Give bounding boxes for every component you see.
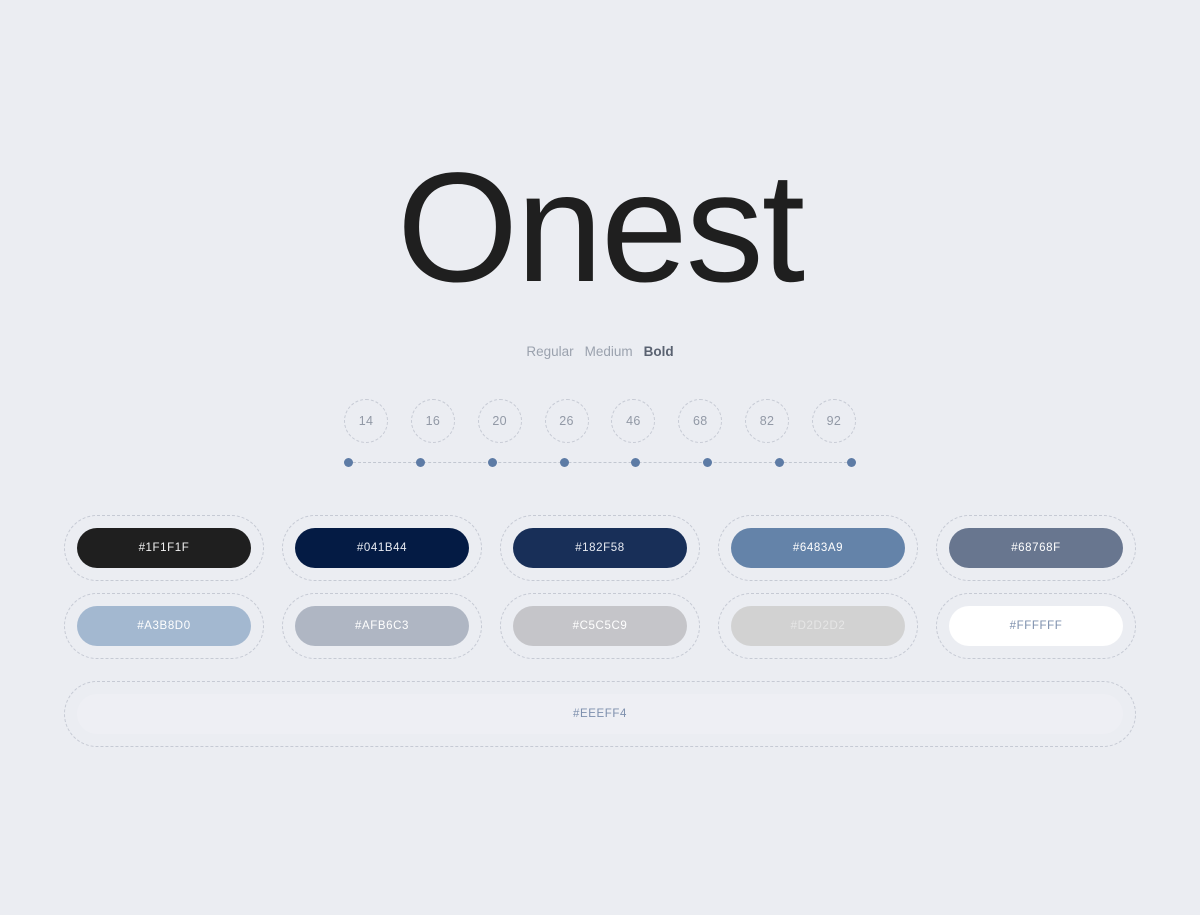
color-swatch[interactable]: #68768F bbox=[949, 528, 1123, 568]
weight-label-regular: Regular bbox=[526, 344, 573, 359]
size-scale-dot[interactable] bbox=[631, 458, 640, 467]
size-scale-value: 92 bbox=[827, 414, 842, 428]
size-scale-value: 26 bbox=[559, 414, 574, 428]
swatch-wrapper: #C5C5C9 bbox=[500, 593, 700, 659]
size-scale-dot[interactable] bbox=[847, 458, 856, 467]
palette-wide-swatch-wrapper: #EEEFF4 bbox=[64, 681, 1136, 747]
size-scale-dot[interactable] bbox=[488, 458, 497, 467]
title-block: Onest Regular Medium Bold bbox=[397, 168, 803, 359]
size-scale-circle[interactable]: 92 bbox=[812, 399, 856, 443]
size-scale-circle[interactable]: 20 bbox=[478, 399, 522, 443]
color-swatch[interactable]: #6483A9 bbox=[731, 528, 905, 568]
palette-row-1: #1F1F1F#041B44#182F58#6483A9#68768F bbox=[64, 515, 1136, 581]
swatch-wrapper: #FFFFFF bbox=[936, 593, 1136, 659]
size-scale-dot[interactable] bbox=[344, 458, 353, 467]
swatch-wrapper: #182F58 bbox=[500, 515, 700, 581]
color-swatch-label: #6483A9 bbox=[793, 542, 843, 554]
palette-wide-swatch[interactable]: #EEEFF4 bbox=[77, 694, 1123, 734]
color-swatch[interactable]: #A3B8D0 bbox=[77, 606, 251, 646]
palette-wide-swatch-label: #EEEFF4 bbox=[573, 708, 627, 720]
size-scale-circle[interactable]: 14 bbox=[344, 399, 388, 443]
swatch-wrapper: #68768F bbox=[936, 515, 1136, 581]
size-scale-circles: 1416202646688292 bbox=[344, 399, 856, 443]
size-scale-circle[interactable]: 46 bbox=[611, 399, 655, 443]
size-scale-dot[interactable] bbox=[560, 458, 569, 467]
size-scale-circle[interactable]: 82 bbox=[745, 399, 789, 443]
size-scale-circle[interactable]: 68 bbox=[678, 399, 722, 443]
color-palette: #1F1F1F#041B44#182F58#6483A9#68768F #A3B… bbox=[64, 515, 1136, 747]
color-swatch-label: #C5C5C9 bbox=[573, 620, 628, 632]
size-scale-value: 14 bbox=[359, 414, 374, 428]
size-scale-value: 46 bbox=[626, 414, 641, 428]
size-scale-value: 20 bbox=[492, 414, 507, 428]
color-swatch-label: #68768F bbox=[1011, 542, 1061, 554]
swatch-wrapper: #D2D2D2 bbox=[718, 593, 918, 659]
color-swatch-label: #182F58 bbox=[575, 542, 625, 554]
color-swatch-label: #1F1F1F bbox=[139, 542, 190, 554]
color-swatch-label: #FFFFFF bbox=[1010, 620, 1063, 632]
color-swatch-label: #AFB6C3 bbox=[355, 620, 409, 632]
color-swatch[interactable]: #AFB6C3 bbox=[295, 606, 469, 646]
size-scale-circle[interactable]: 16 bbox=[411, 399, 455, 443]
color-swatch-label: #A3B8D0 bbox=[137, 620, 190, 632]
color-swatch[interactable]: #D2D2D2 bbox=[731, 606, 905, 646]
swatch-wrapper: #041B44 bbox=[282, 515, 482, 581]
weight-label-medium: Medium bbox=[585, 344, 633, 359]
swatch-wrapper: #A3B8D0 bbox=[64, 593, 264, 659]
color-swatch[interactable]: #C5C5C9 bbox=[513, 606, 687, 646]
size-scale-value: 82 bbox=[760, 414, 775, 428]
color-swatch[interactable]: #041B44 bbox=[295, 528, 469, 568]
size-scale-value: 68 bbox=[693, 414, 708, 428]
page-title: Onest bbox=[397, 168, 803, 292]
swatch-wrapper: #1F1F1F bbox=[64, 515, 264, 581]
swatch-wrapper: #6483A9 bbox=[718, 515, 918, 581]
size-scale-dot[interactable] bbox=[703, 458, 712, 467]
size-scale-track[interactable] bbox=[344, 457, 856, 467]
size-scale-value: 16 bbox=[426, 414, 441, 428]
palette-row-2: #A3B8D0#AFB6C3#C5C5C9#D2D2D2#FFFFFF bbox=[64, 593, 1136, 659]
color-swatch-label: #041B44 bbox=[357, 542, 407, 554]
color-swatch-label: #D2D2D2 bbox=[791, 620, 846, 632]
size-scale-dot[interactable] bbox=[775, 458, 784, 467]
color-swatch[interactable]: #1F1F1F bbox=[77, 528, 251, 568]
font-weights-row: Regular Medium Bold bbox=[526, 344, 673, 359]
size-scale-dot[interactable] bbox=[416, 458, 425, 467]
type-specimen-page: Onest Regular Medium Bold 14162026466882… bbox=[0, 0, 1200, 915]
color-swatch[interactable]: #FFFFFF bbox=[949, 606, 1123, 646]
size-scale-circle[interactable]: 26 bbox=[545, 399, 589, 443]
size-scale-block: 1416202646688292 bbox=[344, 399, 856, 467]
weight-label-bold: Bold bbox=[644, 344, 674, 359]
color-swatch[interactable]: #182F58 bbox=[513, 528, 687, 568]
swatch-wrapper: #AFB6C3 bbox=[282, 593, 482, 659]
